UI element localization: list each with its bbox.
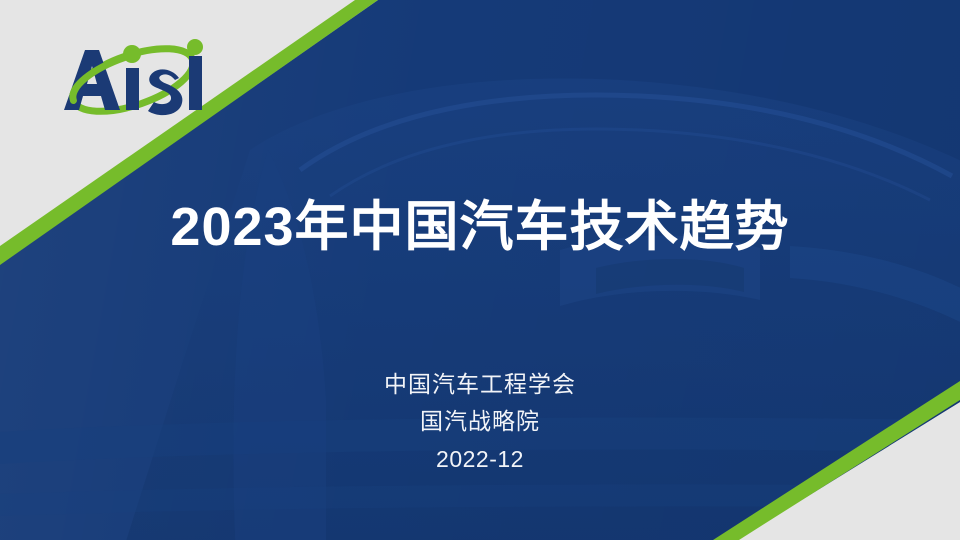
subtitle-institute: 国汽战略院 — [0, 403, 960, 440]
subtitle-date: 2022-12 — [0, 441, 960, 478]
page-title: 2023年中国汽车技术趋势 — [0, 196, 960, 258]
subtitle-organization: 中国汽车工程学会 — [0, 366, 960, 403]
logo-dot-right — [187, 39, 203, 55]
title-slide: 2023年中国汽车技术趋势 中国汽车工程学会 国汽战略院 2022-12 — [0, 0, 960, 540]
logo-dot-accent — [152, 105, 160, 113]
subtitle-block: 中国汽车工程学会 国汽战略院 2022-12 — [0, 366, 960, 478]
aisi-logo — [58, 38, 208, 122]
